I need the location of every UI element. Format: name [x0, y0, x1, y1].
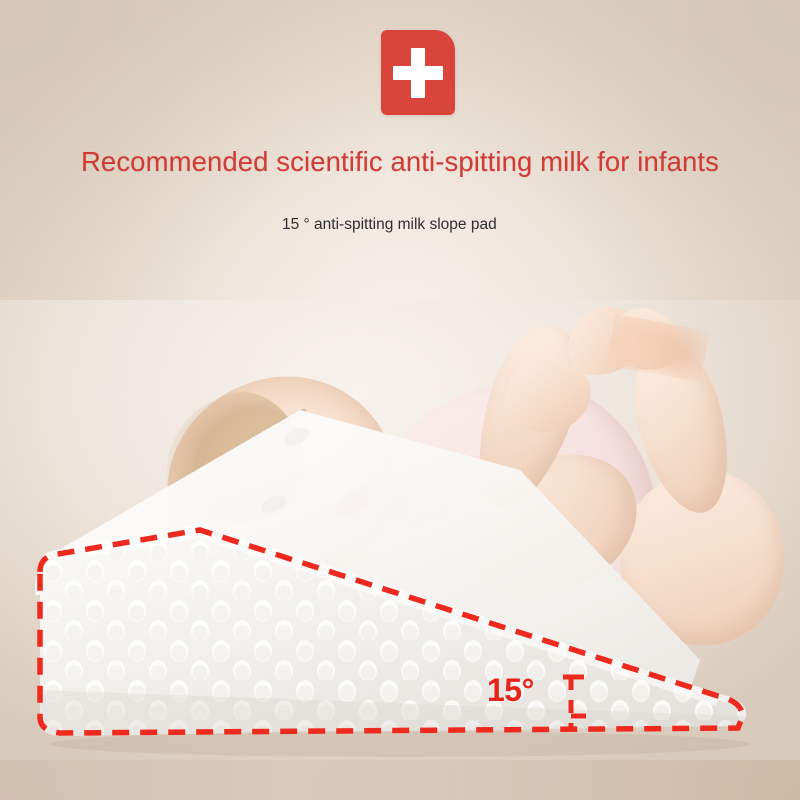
product-image-canvas: Recommended scientific anti-spitting mil…: [0, 0, 800, 800]
medical-cross-icon: [381, 30, 455, 115]
baby-nose: [307, 461, 333, 489]
headline-text: Recommended scientific anti-spitting mil…: [0, 146, 800, 178]
subtitle-text: 15 ° anti-spitting milk slope pad: [282, 216, 507, 234]
cross-vertical-bar: [411, 48, 425, 98]
product-photo: [0, 300, 800, 760]
